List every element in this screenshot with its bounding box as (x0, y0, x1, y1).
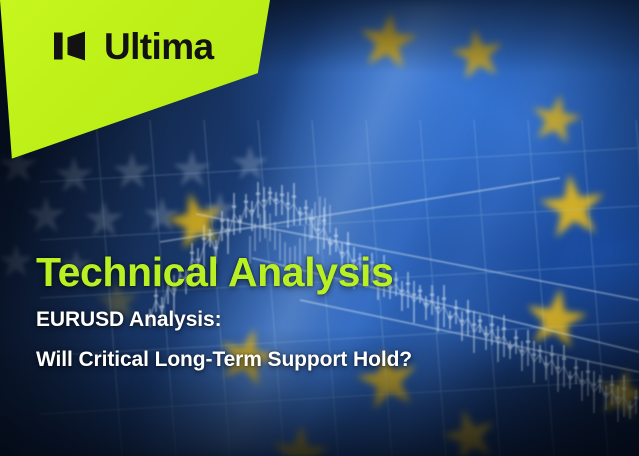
promotional-banner: Ultima Technical Analysis EURUSD Analysi… (0, 0, 639, 456)
page-title: Technical Analysis (36, 252, 596, 293)
brand-logo-lockup[interactable]: Ultima (52, 26, 213, 66)
ultima-logo-mark-icon (52, 26, 92, 66)
subtitle-line-2: Will Critical Long-Term Support Hold? (36, 349, 596, 370)
headline-block: Technical Analysis EURUSD Analysis: Will… (36, 252, 596, 370)
subtitle-line-1: EURUSD Analysis: (36, 309, 596, 330)
brand-wordmark: Ultima (104, 28, 213, 65)
